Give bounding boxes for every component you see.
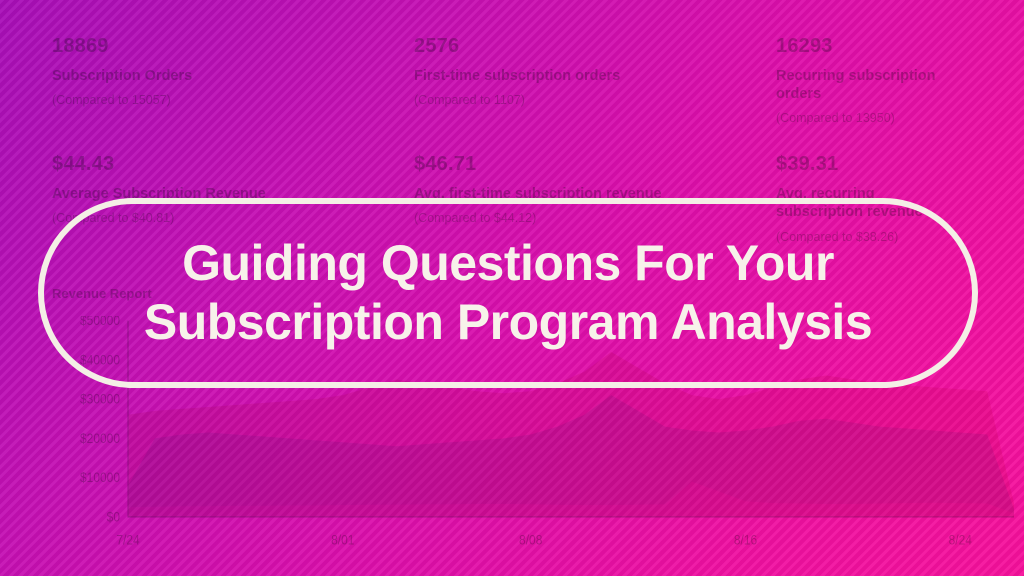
y-axis-tick-label: $20000	[80, 430, 120, 446]
headline-line-1: Guiding Questions For Your	[182, 235, 834, 291]
metric-label: Recurring subscription orders	[776, 67, 962, 103]
metric-comparison: (Compared to 15057)	[52, 93, 396, 108]
metric-value: $46.71	[414, 152, 758, 176]
metric-comparison: (Compared to 13950)	[776, 111, 962, 126]
metric-value: $39.31	[776, 152, 962, 176]
metric-card-first-time-orders: 2576 First-time subscription orders (Com…	[414, 34, 776, 126]
y-axis-tick-label: $10000	[80, 469, 120, 485]
x-axis-tick-label: 8/24	[949, 532, 972, 548]
metrics-row-orders: 18869 Subscription Orders (Compared to 1…	[52, 34, 980, 126]
x-axis-tick-label: 8/08	[519, 532, 542, 548]
y-axis-tick-label: $0	[107, 509, 120, 525]
header-graphic: 18869 Subscription Orders (Compared to 1…	[0, 0, 1024, 576]
headline-line-2: Subscription Program Analysis	[144, 294, 872, 350]
headline-pill: Guiding Questions For YourSubscription P…	[38, 198, 978, 388]
metric-comparison: (Compared to 1107)	[414, 93, 758, 108]
x-axis-tick-label: 7/24	[116, 532, 139, 548]
metric-label: Subscription Orders	[52, 67, 396, 85]
metric-value: 16293	[776, 34, 962, 58]
x-axis-tick-label: 8/16	[734, 532, 757, 548]
metric-value: 18869	[52, 34, 396, 58]
page-title: Guiding Questions For YourSubscription P…	[118, 234, 898, 352]
metric-label: First-time subscription orders	[414, 67, 758, 85]
x-axis-tick-label: 8/01	[331, 532, 354, 548]
metric-card-recurring-orders: 16293 Recurring subscription orders (Com…	[776, 34, 980, 126]
y-axis-tick-label: $30000	[80, 391, 120, 407]
metric-card-subscription-orders: 18869 Subscription Orders (Compared to 1…	[52, 34, 414, 126]
metric-value: $44.43	[52, 152, 396, 176]
metric-value: 2576	[414, 34, 758, 58]
